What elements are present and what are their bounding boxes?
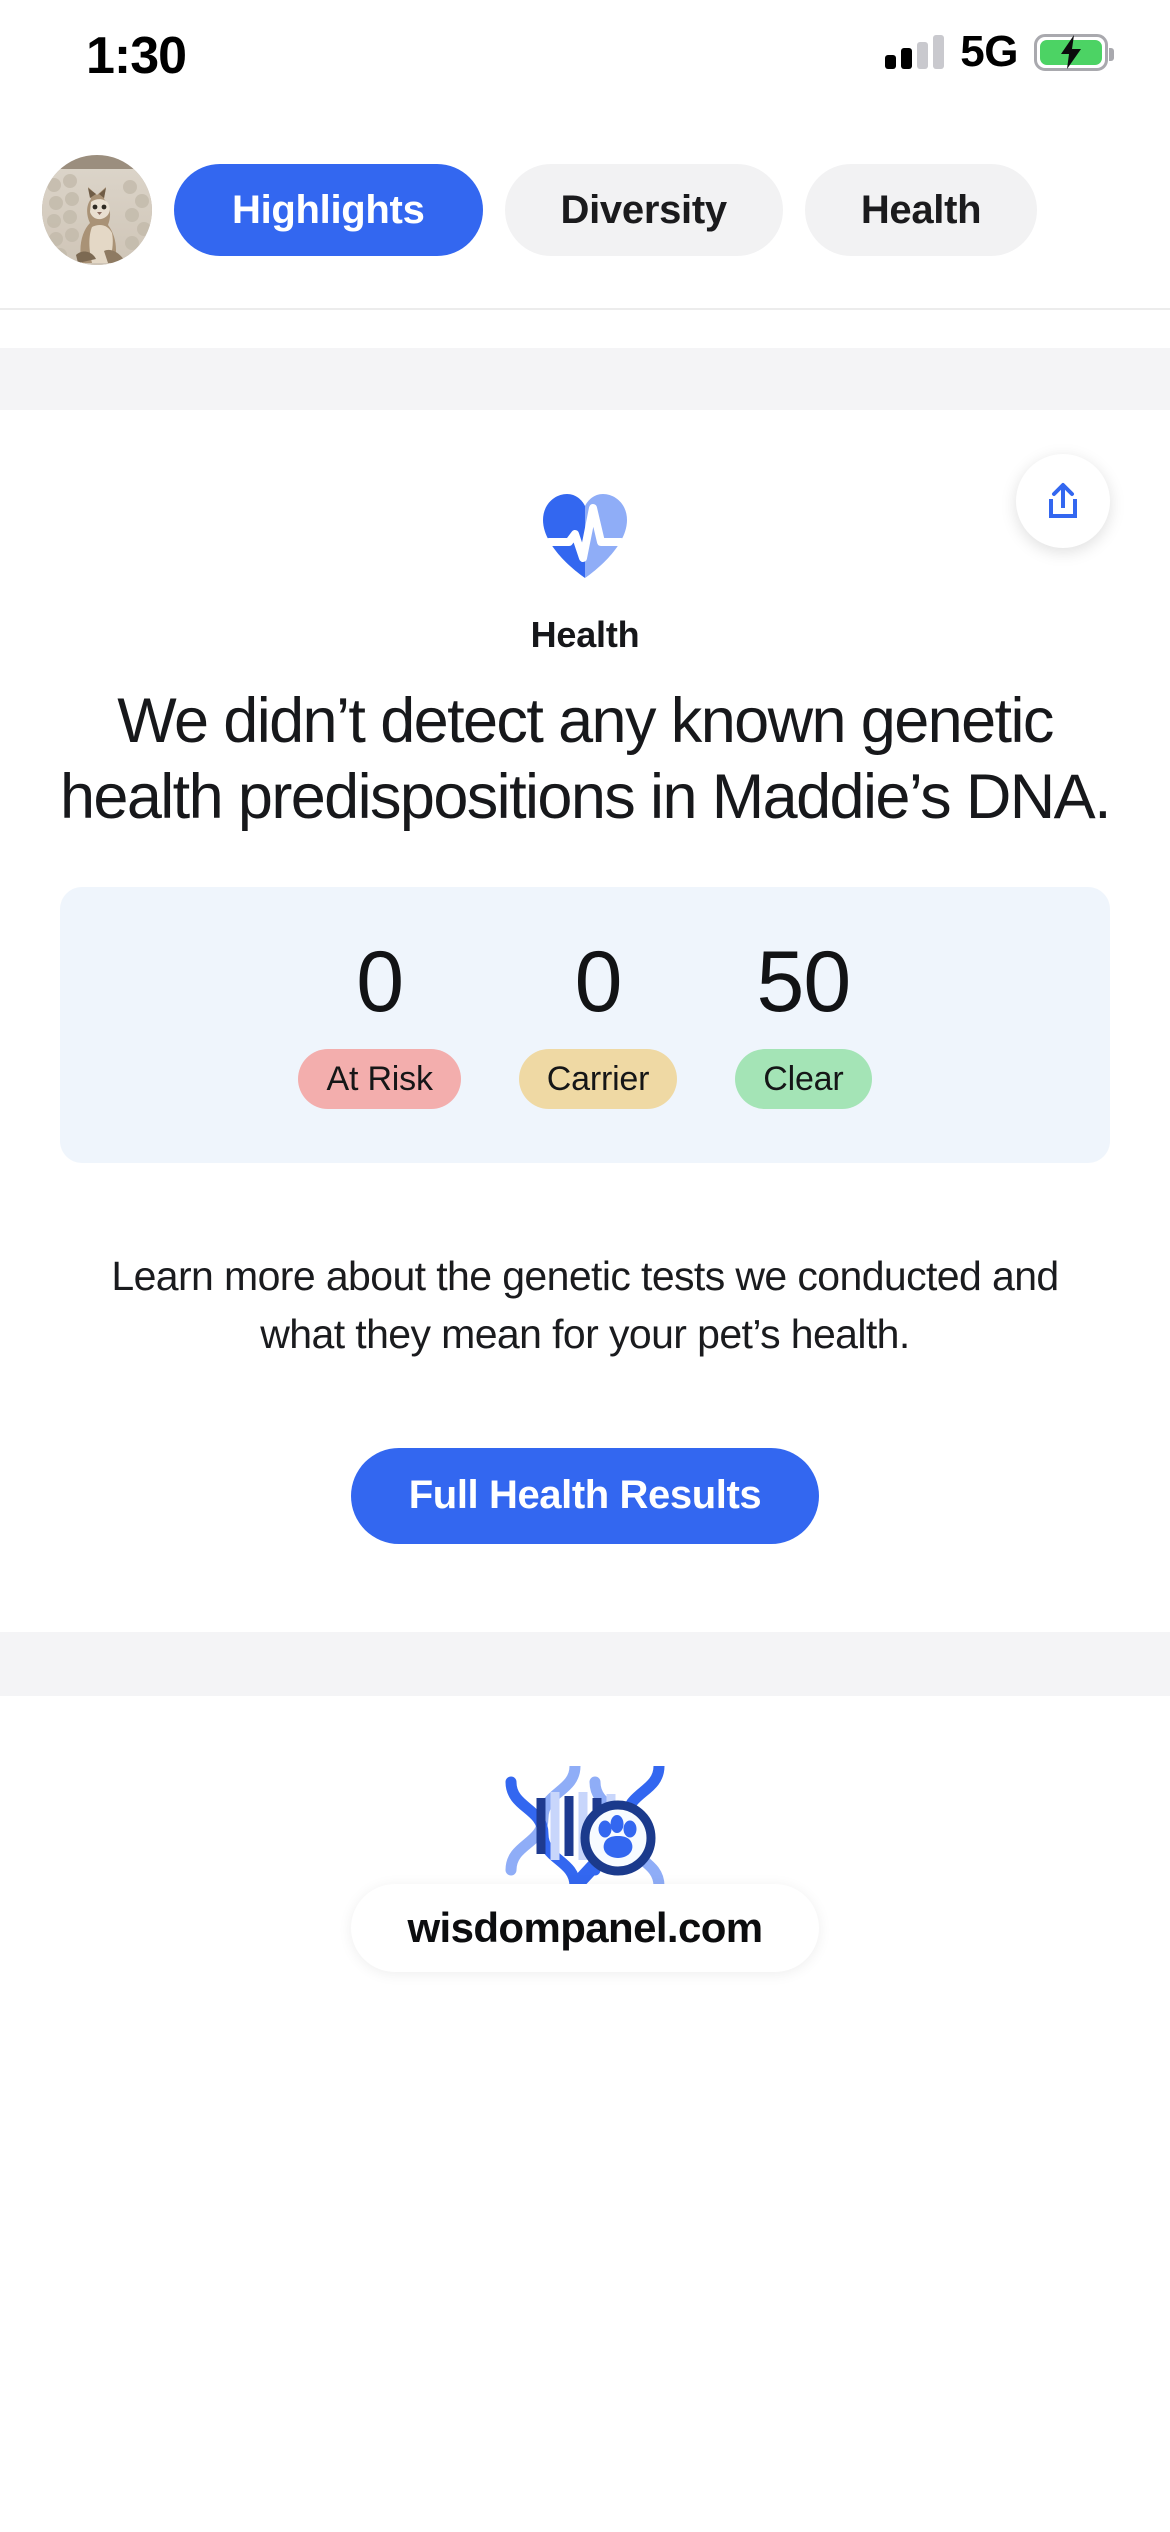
url-pill-container: wisdompanel.com (0, 1884, 1170, 1972)
lightning-bolt-icon (1058, 35, 1084, 69)
stat-carrier-badge: Carrier (519, 1049, 678, 1109)
stat-at-risk[interactable]: 0 At Risk (298, 939, 460, 1109)
stat-clear[interactable]: 50 Clear (735, 939, 871, 1109)
stat-at-risk-label: At Risk (326, 1060, 432, 1099)
profile-tab-bar: Highlights Diversity Health (0, 112, 1170, 310)
stat-clear-label: Clear (763, 1060, 843, 1099)
network-type-label: 5G (960, 30, 1018, 74)
heart-pulse-icon (42, 482, 1128, 586)
stat-clear-value: 50 (757, 939, 851, 1025)
stat-carrier[interactable]: 0 Carrier (519, 939, 678, 1109)
cellular-bars-icon (885, 35, 944, 69)
share-button[interactable] (1016, 454, 1110, 548)
tab-health-label: Health (861, 188, 981, 233)
tab-highlights-label: Highlights (232, 188, 425, 233)
section-divider-band-bottom (0, 1632, 1170, 1696)
status-bar-indicators: 5G (885, 30, 1108, 74)
pet-avatar[interactable] (42, 155, 152, 265)
full-health-results-button[interactable]: Full Health Results (351, 1448, 819, 1544)
status-bar-time: 1:30 (86, 26, 186, 86)
card-header: Health We didn’t detect any known geneti… (42, 410, 1128, 835)
footer: results wisdompanel.com (0, 1696, 1170, 2074)
stat-carrier-label: Carrier (547, 1060, 650, 1099)
tab-diversity[interactable]: Diversity (505, 164, 783, 256)
tab-diversity-label: Diversity (561, 188, 727, 233)
stat-carrier-value: 0 (575, 939, 622, 1025)
dna-magnifier-paw-logo (0, 1766, 1170, 1886)
card-body-text: Learn more about the genetic tests we co… (42, 1247, 1128, 1363)
section-divider-band-top (0, 348, 1170, 410)
full-health-results-label: Full Health Results (409, 1473, 761, 1518)
website-url-label: wisdompanel.com (407, 1904, 762, 1952)
stats-row: 0 At Risk 0 Carrier 50 Clear (60, 939, 1110, 1109)
stat-at-risk-badge: At Risk (298, 1049, 460, 1109)
stat-at-risk-value: 0 (356, 939, 403, 1025)
cta-container: Full Health Results (42, 1448, 1128, 1632)
card-kicker-label: Health (42, 614, 1128, 656)
spacer-above-band (0, 310, 1170, 348)
page-title: We didn’t detect any known genetic healt… (42, 684, 1128, 835)
tab-highlights[interactable]: Highlights (174, 164, 483, 256)
status-bar: 1:30 5G (0, 0, 1170, 112)
share-upload-icon (1041, 479, 1085, 523)
website-url-pill[interactable]: wisdompanel.com (351, 1884, 818, 1972)
avatar (42, 155, 152, 265)
tab-health[interactable]: Health (805, 164, 1037, 256)
stat-clear-badge: Clear (735, 1049, 871, 1109)
battery-charging-icon (1034, 34, 1108, 71)
health-results-summary-chart: 0 At Risk 0 Carrier 50 Clear (60, 887, 1110, 1163)
health-highlight-card: Health We didn’t detect any known geneti… (0, 410, 1170, 1632)
